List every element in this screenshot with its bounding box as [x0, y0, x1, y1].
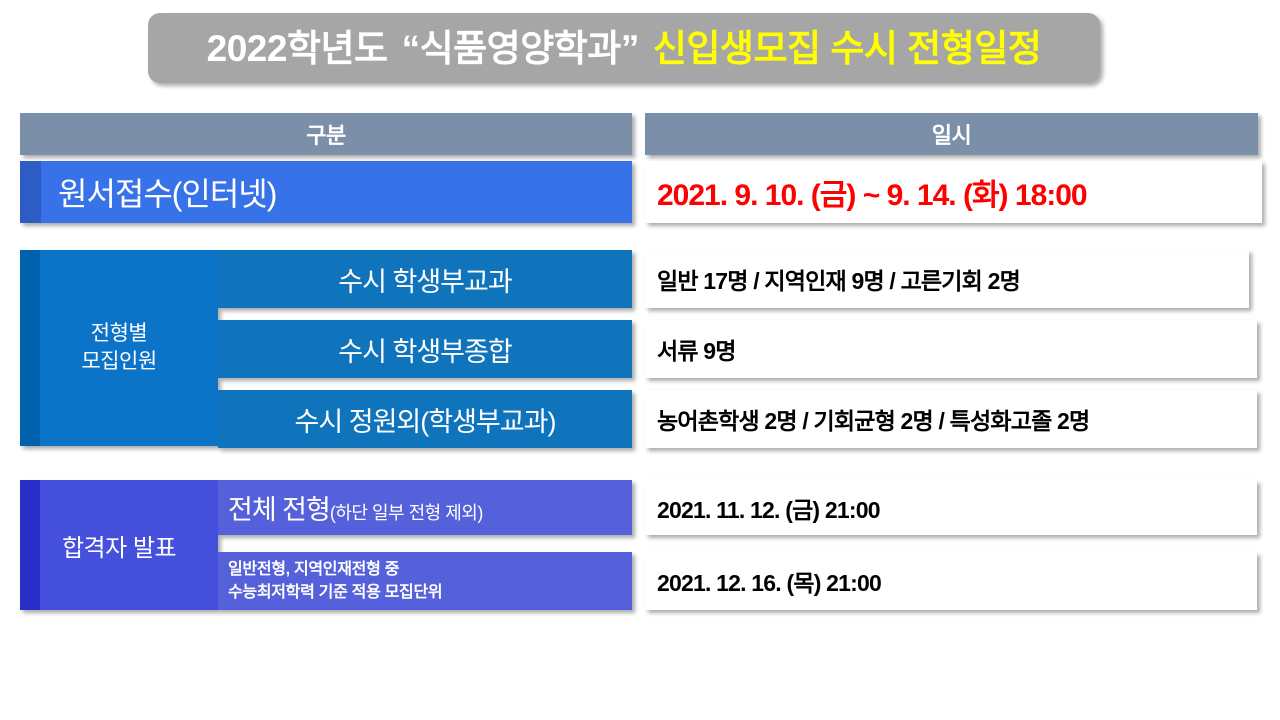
- announcement-group-label: 합격자 발표: [62, 528, 176, 563]
- announcement-row-label-cell: 전체 전형(하단 일부 전형 제외): [218, 480, 632, 535]
- application-row-label-cell: 원서접수(인터넷): [20, 161, 632, 223]
- title-segment-year: 2022학년도: [207, 28, 388, 69]
- slide-title-banner: 2022학년도“식품영양학과”신입생모집 수시 전형일정: [148, 13, 1100, 83]
- quota-row-label: 수시 학생부교과: [338, 260, 511, 299]
- quota-row-label-cell: 수시 학생부종합: [218, 320, 632, 378]
- quota-row-label: 수시 정원외(학생부교과): [295, 400, 556, 439]
- announcement-row-value: 2021. 12. 16. (목) 21:00: [657, 564, 881, 598]
- slide-canvas: 2022학년도“식품영양학과”신입생모집 수시 전형일정 구분 일시 원서접수(…: [0, 0, 1280, 720]
- announcement-row-value-cell: 2021. 12. 16. (목) 21:00: [645, 552, 1257, 610]
- quota-row-value-cell: 서류 9명: [645, 320, 1257, 378]
- quota-row-label-cell: 수시 정원외(학생부교과): [218, 390, 632, 448]
- column-header-category-label: 구분: [306, 118, 345, 150]
- announcement-row-label: 전체 전형(하단 일부 전형 제외): [228, 488, 483, 527]
- column-header-datetime-label: 일시: [932, 118, 971, 150]
- quota-group-label-cell: 전형별 모집인원: [20, 250, 218, 446]
- quota-group-label-line1: 전형별: [91, 322, 147, 345]
- announcement-row-label-note: (하단 일부 전형 제외): [330, 503, 483, 523]
- title-segment-department: “식품영양학과”: [402, 28, 639, 69]
- application-row-value-cell: 2021. 9. 10. (금) ~ 9. 14. (화) 18:00: [645, 161, 1262, 223]
- column-header-datetime: 일시: [645, 113, 1258, 155]
- quota-row-value-cell: 일반 17명 / 지역인재 9명 / 고른기회 2명: [645, 250, 1249, 308]
- quota-row-label-cell: 수시 학생부교과: [218, 250, 632, 308]
- quota-row-value: 서류 9명: [657, 332, 736, 366]
- announcement-row-value-cell: 2021. 11. 12. (금) 21:00: [645, 480, 1257, 535]
- quota-row-value: 농어촌학생 2명 / 기회균형 2명 / 특성화고졸 2명: [657, 402, 1089, 436]
- application-row-label: 원서접수(인터넷): [58, 169, 276, 215]
- title-segment-highlight: 신입생모집 수시 전형일정: [653, 28, 1042, 69]
- announcement-row-value: 2021. 11. 12. (금) 21:00: [657, 491, 880, 525]
- quota-group-label-line2: 모집인원: [81, 350, 156, 373]
- announcement-row-label-main: 전체 전형: [228, 495, 330, 525]
- announcement-row-label: 일반전형, 지역인재전형 중 수능최저학력 기준 적용 모집단위: [228, 558, 442, 604]
- announcement-group-label-cell: 합격자 발표: [20, 480, 218, 610]
- announcement-row-label-cell: 일반전형, 지역인재전형 중 수능최저학력 기준 적용 모집단위: [218, 552, 632, 610]
- quota-row-value: 일반 17명 / 지역인재 9명 / 고른기회 2명: [657, 262, 1020, 296]
- quota-row-value-cell: 농어촌학생 2명 / 기회균형 2명 / 특성화고졸 2명: [645, 390, 1257, 448]
- application-row-value: 2021. 9. 10. (금) ~ 9. 14. (화) 18:00: [657, 170, 1087, 214]
- quota-row-label: 수시 학생부종합: [338, 330, 511, 369]
- page-title: 2022학년도“식품영양학과”신입생모집 수시 전형일정: [207, 30, 1042, 67]
- quota-group-label: 전형별 모집인원: [81, 320, 156, 377]
- column-header-category: 구분: [20, 113, 632, 155]
